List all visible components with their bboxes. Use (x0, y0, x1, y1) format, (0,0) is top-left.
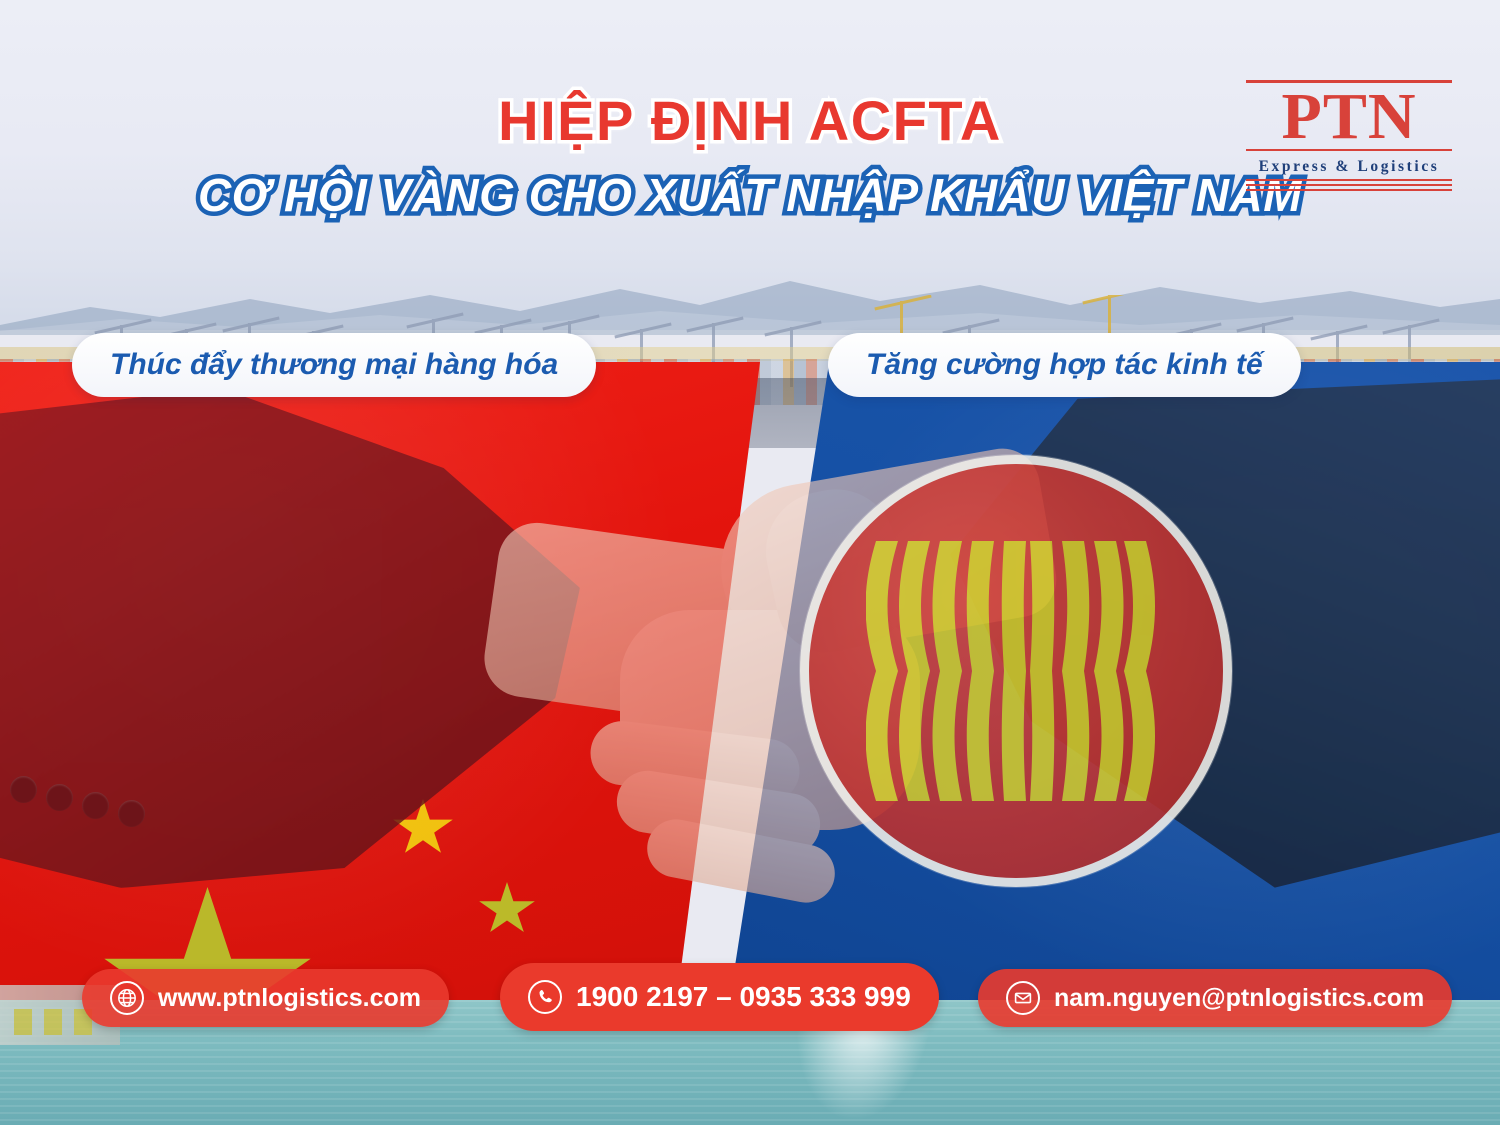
asean-emblem (800, 455, 1232, 887)
phone-icon (528, 980, 562, 1014)
brand-logo[interactable]: PTN Express & Logistics (1246, 80, 1452, 194)
cuff-buttons (10, 770, 220, 830)
contact-bar: www.ptnlogistics.com 1900 2197 – 0935 33… (0, 963, 1500, 1029)
envelope-icon (1006, 981, 1040, 1015)
asean-rice-stalks-icon (866, 541, 1166, 801)
logo-rule-b1 (1246, 179, 1452, 181)
feature-pill-economy-label: Tăng cường hợp tác kinh tế (866, 348, 1263, 382)
feature-pill-trade-label: Thúc đẩy thương mại hàng hóa (110, 348, 558, 382)
logo-rule-b3 (1246, 189, 1452, 191)
logo-brand-text: PTN (1246, 86, 1452, 149)
website-pill[interactable]: www.ptnlogistics.com (82, 969, 449, 1027)
logo-rule-b2 (1246, 184, 1452, 186)
phone-pill[interactable]: 1900 2197 – 0935 333 999 (500, 963, 939, 1031)
logo-tagline: Express & Logistics (1246, 154, 1452, 179)
banner-canvas: HIỆP ĐỊNH ACFTA CƠ HỘI VÀNG CHO XUẤT NHẬ… (0, 0, 1500, 1125)
feature-pill-trade[interactable]: Thúc đẩy thương mại hàng hóa (72, 333, 596, 397)
globe-icon (110, 981, 144, 1015)
email-pill[interactable]: nam.nguyen@ptnlogistics.com (978, 969, 1452, 1027)
email-text: nam.nguyen@ptnlogistics.com (1054, 984, 1424, 1013)
website-text: www.ptnlogistics.com (158, 984, 421, 1013)
phone-text: 1900 2197 – 0935 333 999 (576, 981, 911, 1013)
feature-pill-economy[interactable]: Tăng cường hợp tác kinh tế (828, 333, 1301, 397)
